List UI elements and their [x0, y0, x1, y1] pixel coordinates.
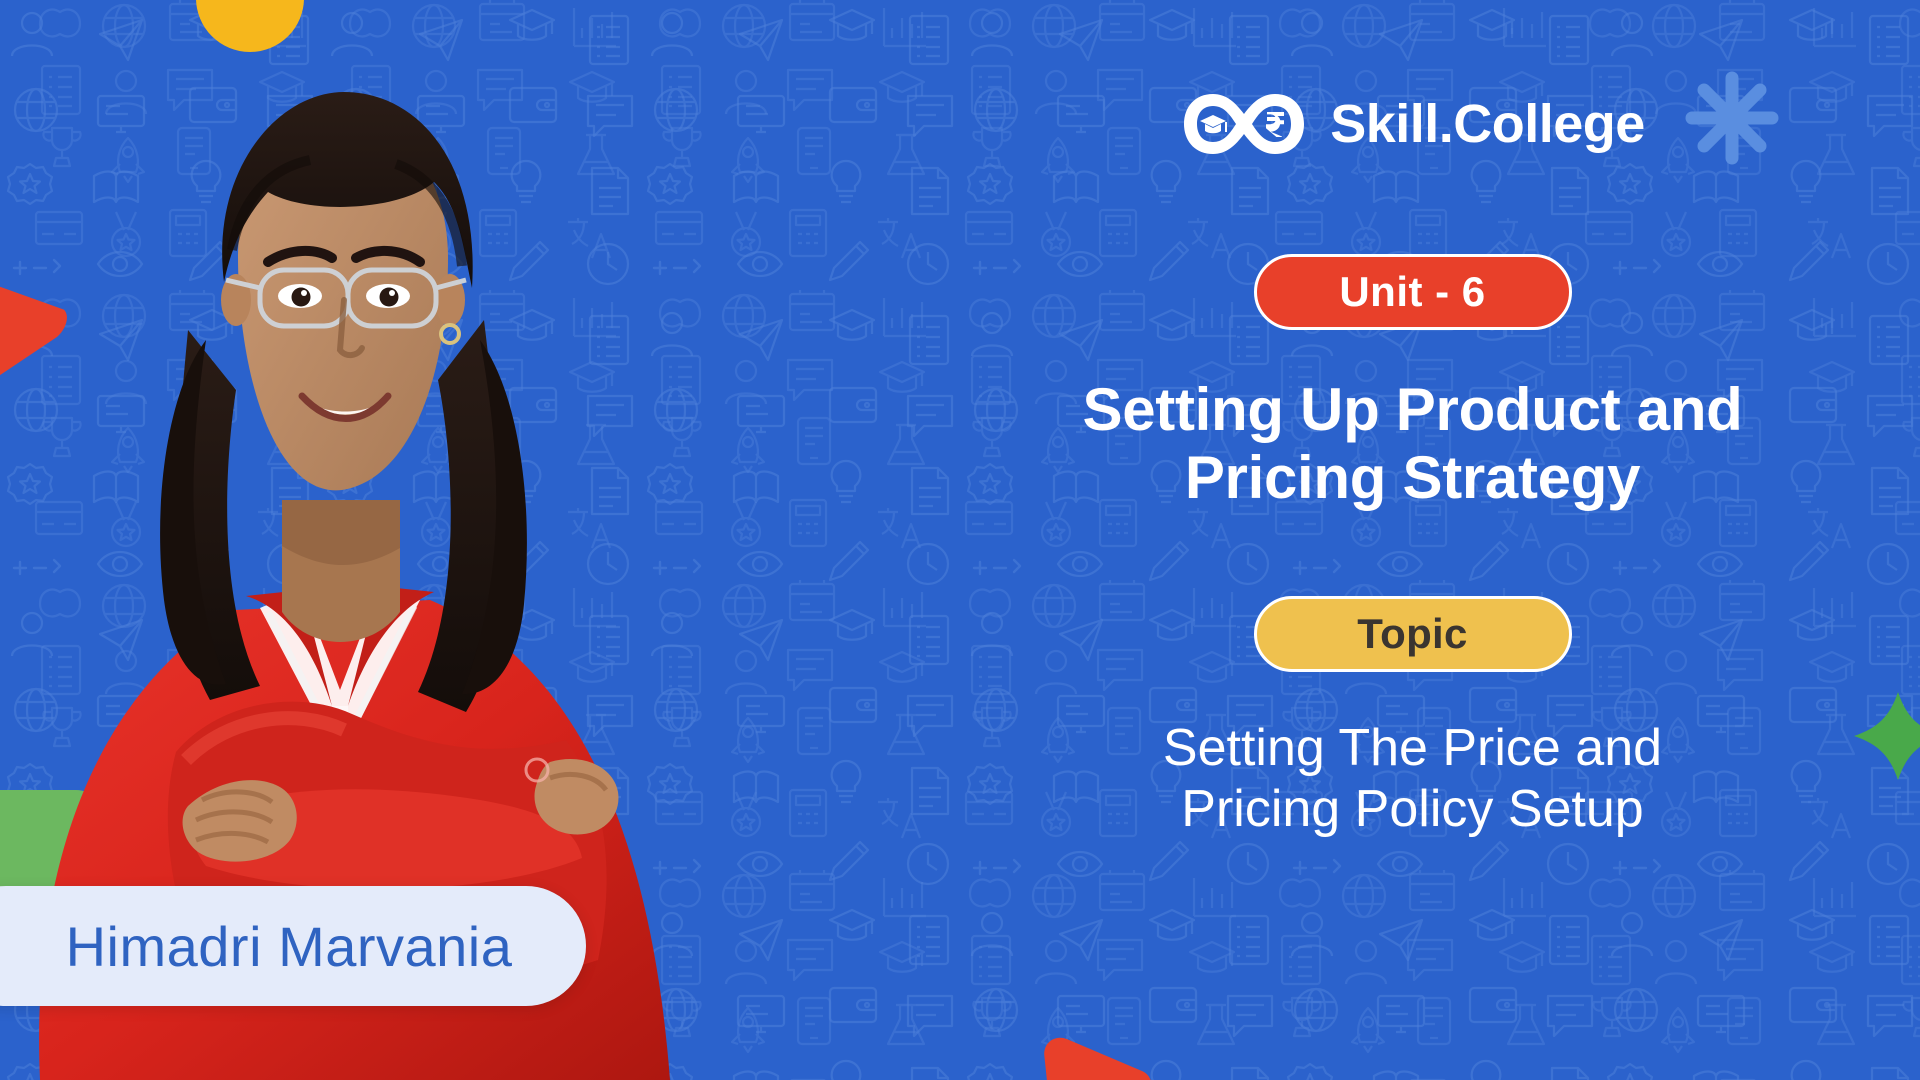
lesson-title-line-2: Pricing Strategy	[1082, 444, 1742, 512]
brand-logo: Skill.College	[1180, 88, 1645, 160]
topic-badge: Topic	[1254, 596, 1572, 672]
infinity-graduation-rupee-icon	[1180, 88, 1308, 160]
presenter-name-badge: Himadri Marvania	[0, 886, 586, 1006]
slide-content-column: Skill.College Unit - 6 Setting Up Produc…	[905, 0, 1920, 1080]
topic-label: Topic	[1357, 610, 1467, 658]
topic-subtitle-line-2: Pricing Policy Setup	[1163, 779, 1662, 840]
topic-subtitle: Setting The Price and Pricing Policy Set…	[1163, 718, 1662, 841]
unit-label: Unit - 6	[1339, 268, 1485, 316]
unit-badge: Unit - 6	[1254, 254, 1572, 330]
lesson-title-slide: Himadri Marvania	[0, 0, 1920, 1080]
topic-subtitle-line-1: Setting The Price and	[1163, 718, 1662, 779]
brand-name: Skill.College	[1330, 97, 1645, 151]
lesson-title-line-1: Setting Up Product and	[1082, 376, 1742, 444]
lesson-title: Setting Up Product and Pricing Strategy	[1082, 376, 1742, 512]
presenter-name: Himadri Marvania	[66, 914, 513, 979]
